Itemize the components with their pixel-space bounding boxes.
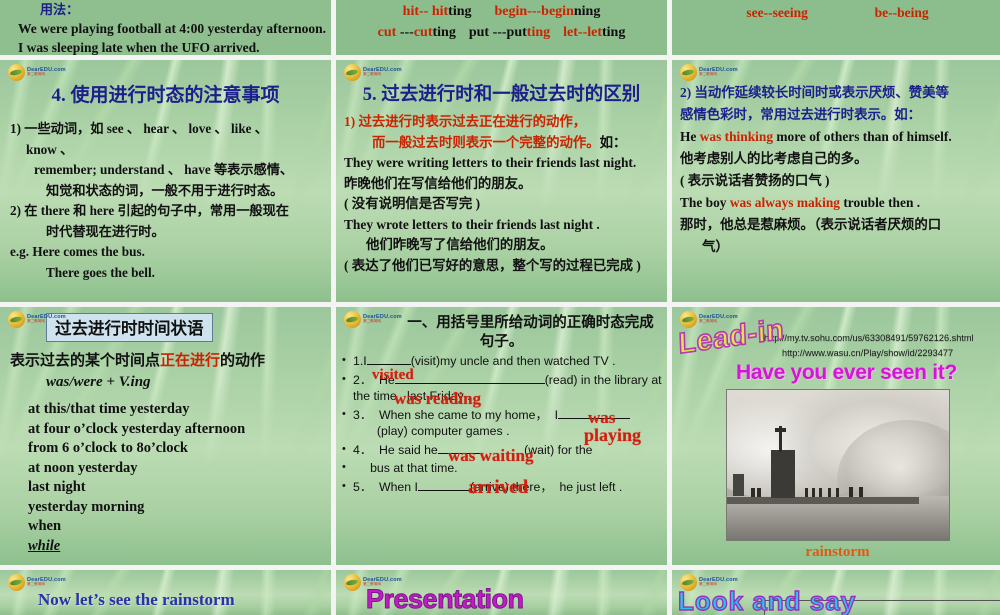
slide-thumb-r3c1[interactable]: DearEDU.com 第二教育网 过去进行时时间状语 表示过去的某个时间点正在… xyxy=(0,307,331,565)
r2c1-line-1: 1) 一些动词，如 see 、 hear 、 love 、 like 、 xyxy=(10,119,323,140)
r2c1-line-6: 时代替现在进行时。 xyxy=(10,222,323,243)
r3c1-definition: 表示过去的某个时间点正在进行的动作 xyxy=(10,349,331,370)
r2c1-line-2: know 、 xyxy=(10,140,323,161)
slide-r1c3-body: see--seeing be--being xyxy=(672,0,1000,23)
slide-r1c2-body: hit-- hitting begin---beginning cut ---c… xyxy=(336,0,667,43)
logo-text-sub: 第二教育网 xyxy=(363,320,402,324)
deardu-logo: DearEDU.com 第二教育网 xyxy=(344,311,402,328)
logo-ball-icon xyxy=(8,311,25,328)
logo-text-sub: 第二教育网 xyxy=(27,583,66,587)
slide-thumb-r3c2[interactable]: DearEDU.com 第二教育网 一、用括号里所给动词的正确时态完成 句子。 … xyxy=(336,307,667,565)
adverbial-item-while: while xyxy=(28,537,331,557)
r2c2-line-3: ( 没有说明信是否写完 ) xyxy=(344,194,661,215)
r2c1-line-5: 2) 在 there 和 here 引起的句子中，常用一般现在 xyxy=(10,201,323,222)
r3c2-title-line-1: 一、用括号里所给动词的正确时态完成 xyxy=(407,315,654,331)
adverbial-item: last night xyxy=(28,478,331,498)
r2c2-line-1: They were writing letters to their frien… xyxy=(344,153,661,174)
logo-ball-icon xyxy=(344,64,361,81)
rainstorm-photo xyxy=(726,389,950,541)
adverbial-item: yesterday morning xyxy=(28,498,331,518)
r1c1-line-2: I was sleeping late when the UFO arrived… xyxy=(18,38,331,55)
slide-r3c3-body: http://my.tv.sohu.com/us/63308491/597621… xyxy=(672,333,1000,561)
logo-text-sub: 第二教育网 xyxy=(699,583,738,587)
r2c2-list: 1) 过去进行时表示过去正在进行的动作， 而一般过去时则表示一个完整的动作。如：… xyxy=(336,112,667,276)
deardu-logo: DearEDU.com 第二教育网 xyxy=(680,574,738,591)
r2c1-line-3: remember; understand 、 have 等表示感情、 xyxy=(10,160,323,181)
adverbial-item: from 6 o’clock to 8o’clock xyxy=(28,439,331,459)
r1c1-heading: 用法： xyxy=(40,0,331,19)
r3c2-title-line-2: 句子。 xyxy=(480,334,524,350)
r2c3-example-2: The boy was always making trouble then . xyxy=(680,192,995,214)
deardu-logo: DearEDU.com 第二教育网 xyxy=(344,574,402,591)
r2c2-red-line-2-tail: 如： xyxy=(600,135,627,150)
r3c1-box-title: 过去进行时时间状语 xyxy=(46,313,213,342)
slide-thumb-r4c1[interactable]: DearEDU.com 第二教育网 Now let’s see the rain… xyxy=(0,570,331,615)
r1c2-line-1: hit-- hitting begin---beginning xyxy=(336,1,667,22)
r3c1-definition-red: 正在进行 xyxy=(160,353,220,369)
slide-r2c2-body: 5. 过去进行时和一般过去时的区别 1) 过去进行时表示过去正在进行的动作， 而… xyxy=(336,80,667,276)
video-url-2[interactable]: http://www.wasu.cn/Play/show/id/2293477 xyxy=(782,348,1000,358)
r2c3-ex1-b: more of others than of himself. xyxy=(773,129,952,144)
r4c1-title: Now let’s see the rainstorm xyxy=(38,590,331,610)
slide-r2c3-body: 2) 当动作延续较长时间时或表示厌烦、赞美等 感情色彩时，常用过去进行时表示。如… xyxy=(672,82,1000,258)
logo-ball-icon xyxy=(680,64,697,81)
slide-r3c1-body: 过去进行时时间状语 表示过去的某个时间点正在进行的动作 was/were + V… xyxy=(0,307,331,556)
r1c3-item-1: see--seeing xyxy=(746,5,807,20)
slide-thumbnail-grid: 用法： We were playing football at 4:00 yes… xyxy=(0,0,1000,600)
slide-thumb-r4c3[interactable]: DearEDU.com 第二教育网 Look and say It’s a nd xyxy=(672,570,1000,615)
r2c3-ex2-b: trouble then . xyxy=(840,195,920,210)
r2c2-line-2: 昨晚他们在写信给他们的朋友。 xyxy=(344,174,661,195)
r3c3-heading: Have you ever seen it? xyxy=(672,361,1000,385)
r2c3-intro-1: 2) 当动作延续较长时间时或表示厌烦、赞美等 xyxy=(680,82,995,104)
deardu-logo: DearEDU.com 第二教育网 xyxy=(8,64,66,81)
logo-ball-icon xyxy=(680,574,697,591)
r2c2-title: 5. 过去进行时和一般过去时的区别 xyxy=(336,80,667,106)
logo-ball-icon xyxy=(344,311,361,328)
r2c1-line-8: There goes the bell. xyxy=(10,263,323,284)
rainstorm-caption: rainstorm xyxy=(672,544,1000,561)
video-url-1[interactable]: http://my.tv.sohu.com/us/63308491/597621… xyxy=(764,333,1000,343)
logo-text-sub: 第二教育网 xyxy=(363,73,402,77)
answer-annotation: visited xyxy=(372,367,414,384)
r1c2-line-2: cut ---cutting put ---putting let--letti… xyxy=(336,22,667,43)
adverbial-item: when xyxy=(28,517,331,537)
r3c1-definition-b: 的动作 xyxy=(220,353,265,369)
r2c2-line-5: 他们昨晚写了信给他们的朋友。 xyxy=(344,235,661,256)
slide-thumb-r4c2[interactable]: DearEDU.com 第二教育网 Presentation xyxy=(336,570,667,615)
r2c3-ex2-a: The boy xyxy=(680,195,730,210)
logo-text-sub: 第二教育网 xyxy=(699,73,738,77)
r2c1-list: 1) 一些动词，如 see 、 hear 、 love 、 like 、 kno… xyxy=(0,119,331,283)
r2c2-red-line-2-text: 而一般过去时则表示一个完整的动作。 xyxy=(372,135,600,150)
slide-thumb-r2c1[interactable]: DearEDU.com 第二教育网 4. 使用进行时态的注意事项 1) 一些动词… xyxy=(0,60,331,302)
logo-ball-icon xyxy=(344,574,361,591)
r3c1-formula: was/were + V.ing xyxy=(46,374,331,391)
r2c2-red-line-1: 1) 过去进行时表示过去正在进行的动作， xyxy=(344,112,661,133)
answer-annotation: was waiting xyxy=(448,446,533,466)
slide-thumb-r2c3[interactable]: DearEDU.com 第二教育网 2) 当动作延续较长时间时或表示厌烦、赞美等… xyxy=(672,60,1000,302)
logo-text-sub: 第二教育网 xyxy=(27,320,66,324)
adverbial-item: at noon yesterday xyxy=(28,459,331,479)
logo-text-sub: 第二教育网 xyxy=(27,73,66,77)
r3c1-adverbial-list: at this/that time yesterday at four o’cl… xyxy=(28,400,331,556)
r1c1-line-1: We were playing football at 4:00 yesterd… xyxy=(18,19,331,38)
deardu-logo: DearEDU.com 第二教育网 xyxy=(680,64,738,81)
r2c2-red-line-2: 而一般过去时则表示一个完整的动作。如： xyxy=(344,133,661,154)
logo-ball-icon xyxy=(8,64,25,81)
slide-thumb-r1c1[interactable]: 用法： We were playing football at 4:00 yes… xyxy=(0,0,331,55)
r2c3-ex1-a: He xyxy=(680,129,700,144)
logo-text-sub: 第二教育网 xyxy=(363,583,402,587)
r2c3-ex1-red: was thinking xyxy=(700,129,773,144)
deardu-logo: DearEDU.com 第二教育网 xyxy=(8,574,66,591)
slide-thumb-r1c3[interactable]: see--seeing be--being xyxy=(672,0,1000,55)
deardu-logo: DearEDU.com 第二教育网 xyxy=(344,64,402,81)
deardu-logo: DearEDU.com 第二教育网 xyxy=(8,311,66,328)
slide-r2c1-body: 4. 使用进行时态的注意事项 1) 一些动词，如 see 、 hear 、 lo… xyxy=(0,80,331,283)
slide-thumb-r1c2[interactable]: hit-- hitting begin---beginning cut ---c… xyxy=(336,0,667,55)
r2c3-example-2-cn2: 气） xyxy=(680,236,995,258)
r2c2-line-6: ( 表达了他们已写好的意思，整个写的过程已完成 ) xyxy=(344,256,661,277)
r3c1-definition-a: 表示过去的某个时间点 xyxy=(10,353,160,369)
r2c1-line-7: e.g. Here comes the bus. xyxy=(10,242,323,263)
adverbial-item: at four o’clock yesterday afternoon xyxy=(28,420,331,440)
adverbial-item: at this/that time yesterday xyxy=(28,400,331,420)
r2c3-example-1-note: ( 表示说话者赞扬的口气 ) xyxy=(680,170,995,192)
r2c3-intro-2: 感情色彩时，常用过去进行时表示。如： xyxy=(680,104,995,126)
r2c3-example-2-cn: 那时，他总是惹麻烦。（表示说话者厌烦的口 xyxy=(680,214,995,236)
answer-annotation: playing xyxy=(584,425,641,446)
r2c2-line-4: They wrote letters to their friends last… xyxy=(344,215,661,236)
r2c1-title: 4. 使用进行时态的注意事项 xyxy=(0,80,331,107)
slide-r1c1-body: 用法： We were playing football at 4:00 yes… xyxy=(0,0,331,55)
slide-thumb-r2c2[interactable]: DearEDU.com 第二教育网 5. 过去进行时和一般过去时的区别 1) 过… xyxy=(336,60,667,302)
r2c3-ex2-red: was always making xyxy=(730,195,840,210)
slide-r3c2-body: 一、用括号里所给动词的正确时态完成 句子。 1.I(visit)my uncle… xyxy=(336,314,667,495)
r2c1-line-4: 知觉和状态的词，一般不用于进行时态。 xyxy=(10,181,323,202)
r1c3-line: see--seeing be--being xyxy=(672,2,1000,23)
answer-annotation: arrived xyxy=(468,477,528,499)
r2c3-example-1-cn: 他考虑别人的比考虑自己的多。 xyxy=(680,148,995,170)
r1c3-item-2: be--being xyxy=(875,5,929,20)
r2c3-example-1: He was thinking more of others than of h… xyxy=(680,126,995,148)
logo-ball-icon xyxy=(8,574,25,591)
slide-thumb-r3c3[interactable]: DearEDU.com 第二教育网 Lead-in http://my.tv.s… xyxy=(672,307,1000,565)
answer-annotation: was reading xyxy=(394,389,481,409)
